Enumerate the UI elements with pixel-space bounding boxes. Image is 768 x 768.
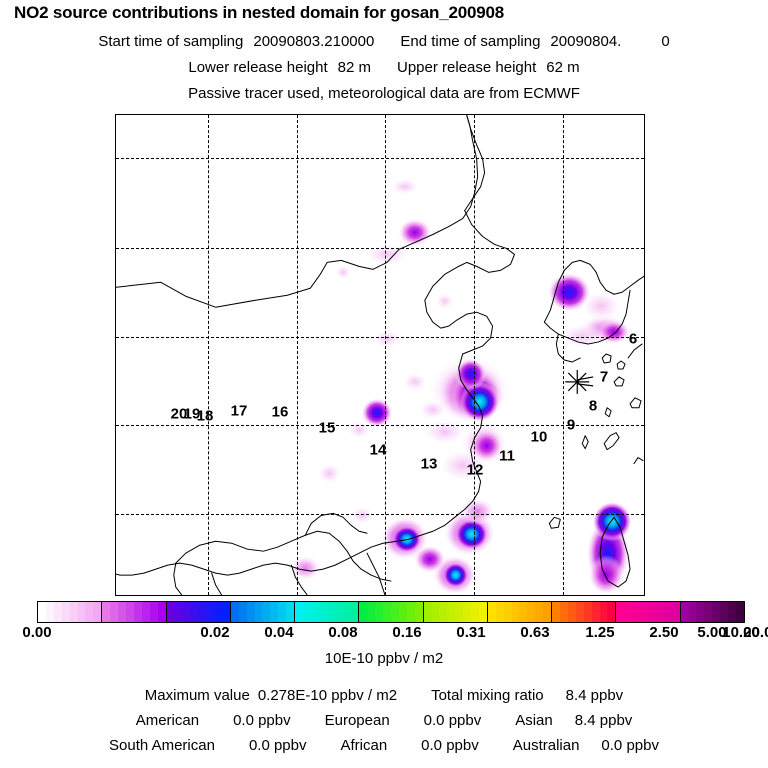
colorbar-tick-1: 0.02: [200, 624, 229, 641]
region-label-american: American: [136, 712, 199, 729]
map-label-18: 18: [197, 408, 214, 425]
colorbar-step: [488, 602, 496, 622]
colorbar-step: [142, 602, 150, 622]
colorbar-step: [375, 602, 383, 622]
colorbar-tick-0: 0.00: [22, 624, 51, 641]
colorbar-step: [479, 602, 487, 622]
colorbar-step: [319, 602, 327, 622]
colorbar-tick-5: 0.31: [456, 624, 485, 641]
colorbar-step: [535, 602, 543, 622]
colorbar-step: [126, 602, 134, 622]
footer-region-row-1: American0.0 ppbvEuropean0.0 ppbvAsian8.4…: [0, 712, 768, 729]
colorbar-step: [367, 602, 375, 622]
colorbar-step: [343, 602, 351, 622]
region-value-asian: 8.4 ppbv: [575, 712, 633, 729]
colorbar-step: [303, 602, 311, 622]
tracer-note: Passive tracer used, meteorological data…: [0, 85, 768, 102]
page-title: NO2 source contributions in nested domai…: [14, 3, 504, 23]
colorbar-step: [311, 602, 319, 622]
region-label-south-american: South American: [109, 737, 215, 754]
colorbar-caption: 10E-10 ppbv / m2: [0, 650, 768, 667]
region-label-asian: Asian: [515, 712, 553, 729]
colorbar-step: [439, 602, 447, 622]
colorbar-step: [247, 602, 255, 622]
region-label-european: European: [325, 712, 390, 729]
colorbar-step: [327, 602, 335, 622]
colorbar-step: [222, 602, 230, 622]
colorbar-step: [150, 602, 158, 622]
colorbar-step: [134, 602, 142, 622]
colorbar-tick-6: 0.63: [520, 624, 549, 641]
colorbar-step: [85, 602, 93, 622]
colorbar-step: [415, 602, 423, 622]
map-label-8: 8: [589, 398, 597, 415]
colorbar-band-7: [488, 602, 552, 622]
colorbar-step: [656, 602, 664, 622]
end-time-label: End time of sampling: [400, 33, 540, 50]
map-label-16: 16: [272, 404, 289, 421]
region-value-african: 0.0 ppbv: [421, 737, 479, 754]
colorbar-step: [182, 602, 190, 622]
map-plot-area[interactable]: 20191817161514131211109876: [115, 114, 645, 596]
colorbar-step: [270, 602, 278, 622]
flexpart-no2-source-contribution-plot: NO2 source contributions in nested domai…: [0, 0, 768, 768]
colorbar-step: [93, 602, 101, 622]
colorbar-step: [543, 602, 551, 622]
colorbar-step: [568, 602, 576, 622]
colorbar-step: [648, 602, 656, 622]
map-label-9: 9: [567, 417, 575, 434]
upper-release-height-value: 62 m: [546, 59, 579, 76]
colorbar-step: [640, 602, 648, 622]
colorbar-step: [447, 602, 455, 622]
colorbar-step: [206, 602, 214, 622]
colorbar-step: [527, 602, 535, 622]
colorbar-band-8: [552, 602, 616, 622]
colorbar-step: [664, 602, 672, 622]
colorbar-step: [359, 602, 367, 622]
colorbar-tick-2: 0.04: [264, 624, 293, 641]
end-time-value: 20090804.: [550, 33, 621, 50]
colorbar-step: [471, 602, 479, 622]
colorbar-step: [102, 602, 110, 622]
colorbar-step: [712, 602, 720, 622]
map-label-6: 6: [629, 331, 637, 348]
colorbar-step: [455, 602, 463, 622]
colorbar-band-2: [167, 602, 231, 622]
colorbar-step: [70, 602, 78, 622]
colorbar-step: [278, 602, 286, 622]
colorbar-step: [190, 602, 198, 622]
colorbar-step: [78, 602, 86, 622]
colorbar-step: [295, 602, 303, 622]
colorbar-step: [504, 602, 512, 622]
colorbar-step: [383, 602, 391, 622]
colorbar-step: [54, 602, 62, 622]
colorbar-step: [720, 602, 728, 622]
colorbar-step: [616, 602, 624, 622]
map-label-17: 17: [231, 403, 248, 420]
colorbar-step: [255, 602, 263, 622]
start-time-value: 20090803.210000: [253, 33, 374, 50]
region-value-south-american: 0.0 ppbv: [249, 737, 307, 754]
map-annotations: 20191817161514131211109876: [116, 115, 644, 595]
colorbar-step: [584, 602, 592, 622]
map-label-13: 13: [421, 456, 438, 473]
colorbar-tick-labels: 0.000.020.040.080.160.310.631.252.505.00…: [0, 624, 768, 644]
total-mixing-ratio-value: 8.4 ppbv: [566, 687, 624, 704]
map-label-15: 15: [319, 420, 336, 437]
colorbar-step: [46, 602, 54, 622]
colorbar-step: [62, 602, 70, 622]
max-value-value: 0.278E-10 ppbv / m2: [258, 687, 397, 704]
colorbar-step: [262, 602, 270, 622]
colorbar-step: [407, 602, 415, 622]
colorbar-step: [512, 602, 520, 622]
colorbar-step: [496, 602, 504, 622]
colorbar-band-10: [681, 602, 744, 622]
colorbar-step: [519, 602, 527, 622]
colorbar-step: [167, 602, 175, 622]
region-label-australian: Australian: [513, 737, 580, 754]
colorbar-step: [689, 602, 697, 622]
colorbar-band-6: [424, 602, 488, 622]
colorbar-step: [736, 602, 744, 622]
colorbar-step: [463, 602, 471, 622]
colorbar-step: [231, 602, 239, 622]
footer-region-row-2: South American0.0 ppbvAfrican0.0 ppbvAus…: [0, 737, 768, 754]
colorbar-step: [552, 602, 560, 622]
colorbar-step: [672, 602, 680, 622]
colorbar-step: [592, 602, 600, 622]
colorbar-step: [198, 602, 206, 622]
colorbar-step: [624, 602, 632, 622]
colorbar-band-4: [295, 602, 359, 622]
lower-release-height-label: Lower release height: [188, 59, 327, 76]
map-label-11: 11: [499, 448, 515, 465]
colorbar-step: [607, 602, 615, 622]
colorbar-step: [38, 602, 46, 622]
colorbar-step: [350, 602, 358, 622]
colorbar-step: [158, 602, 166, 622]
colorbar-step: [239, 602, 247, 622]
colorbar-step: [704, 602, 712, 622]
map-label-12: 12: [467, 462, 484, 479]
colorbar-tick-4: 0.16: [392, 624, 421, 641]
colorbar-step: [632, 602, 640, 622]
sampling-time-line: Start time of sampling20090803.210000End…: [0, 33, 768, 50]
release-height-line: Lower release height82 mUpper release he…: [0, 59, 768, 76]
colorbar-step: [335, 602, 343, 622]
region-value-american: 0.0 ppbv: [233, 712, 291, 729]
colorbar-step: [391, 602, 399, 622]
colorbar-step: [728, 602, 736, 622]
colorbar-tick-8: 2.50: [649, 624, 678, 641]
colorbar-tick-3: 0.08: [328, 624, 357, 641]
colorbar-band-9: [616, 602, 680, 622]
colorbar-step: [399, 602, 407, 622]
map-label-7: 7: [600, 369, 608, 386]
colorbar-step: [110, 602, 118, 622]
max-value-label: Maximum value: [145, 687, 250, 704]
lower-release-height-value: 82 m: [338, 59, 371, 76]
footer-summary-line: Maximum value0.278E-10 ppbv / m2Total mi…: [0, 687, 768, 704]
colorbar-band-0: [38, 602, 102, 622]
colorbar-tick-7: 1.25: [585, 624, 614, 641]
colorbar-step: [424, 602, 432, 622]
colorbar-step: [286, 602, 294, 622]
start-time-label: Start time of sampling: [98, 33, 243, 50]
map-label-14: 14: [370, 442, 387, 459]
colorbar-step: [432, 602, 440, 622]
colorbar-step: [576, 602, 584, 622]
colorbar-step: [118, 602, 126, 622]
colorbar-step: [174, 602, 182, 622]
colorbar-step: [214, 602, 222, 622]
colorbar-step: [600, 602, 608, 622]
colorbar-band-5: [359, 602, 423, 622]
colorbar-band-1: [102, 602, 166, 622]
region-label-african: African: [340, 737, 387, 754]
region-value-european: 0.0 ppbv: [424, 712, 482, 729]
colorbar-step: [681, 602, 689, 622]
map-label-10: 10: [531, 429, 548, 446]
end-time-value-2: 0: [661, 33, 669, 50]
total-mixing-ratio-label: Total mixing ratio: [431, 687, 544, 704]
colorbar[interactable]: [37, 601, 745, 623]
release-site-star-icon: [116, 115, 644, 595]
colorbar-step: [696, 602, 704, 622]
region-value-australian: 0.0 ppbv: [601, 737, 659, 754]
upper-release-height-label: Upper release height: [397, 59, 536, 76]
colorbar-step: [560, 602, 568, 622]
colorbar-band-3: [231, 602, 295, 622]
colorbar-tick-11: 20.00: [743, 624, 768, 641]
